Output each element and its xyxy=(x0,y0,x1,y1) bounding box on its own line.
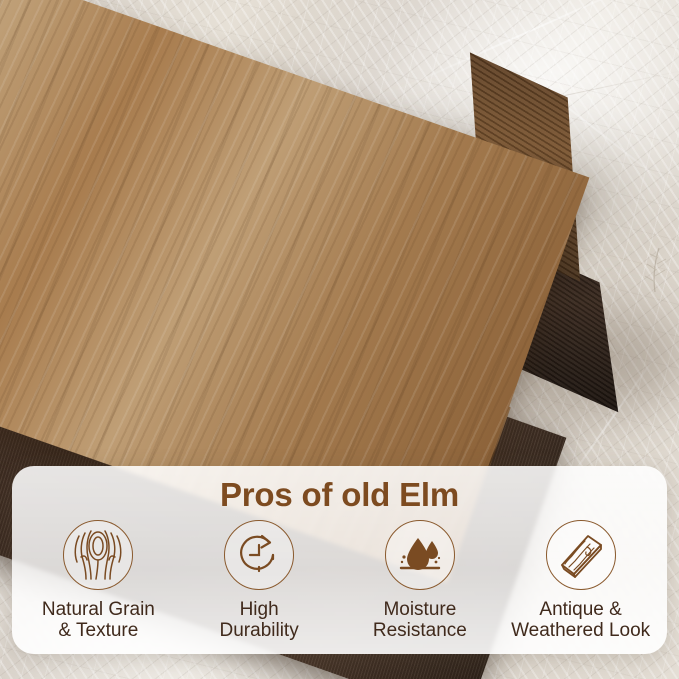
feature-label: Natural Grain & Texture xyxy=(42,599,155,642)
feature-antique-weathered[interactable]: Antique & Weathered Look xyxy=(501,520,661,642)
wood-plank-icon xyxy=(546,520,616,590)
pros-info-card: Pros of old Elm xyxy=(12,466,667,654)
clock-arrow-icon xyxy=(224,520,294,590)
product-image: Pros of old Elm xyxy=(0,0,679,679)
feature-label: High Durability xyxy=(220,599,299,642)
feature-natural-grain[interactable]: Natural Grain & Texture xyxy=(18,520,178,642)
feature-moisture-resistance[interactable]: Moisture Resistance xyxy=(340,520,500,642)
card-title: Pros of old Elm xyxy=(12,476,667,514)
feature-list: Natural Grain & Texture High Durability xyxy=(12,520,667,652)
dried-sprig-decoration xyxy=(639,246,671,292)
wood-grain-icon xyxy=(63,520,133,590)
water-droplet-icon xyxy=(385,520,455,590)
feature-label: Moisture Resistance xyxy=(373,599,467,642)
feature-label: Antique & Weathered Look xyxy=(511,599,650,642)
feature-high-durability[interactable]: High Durability xyxy=(179,520,339,642)
